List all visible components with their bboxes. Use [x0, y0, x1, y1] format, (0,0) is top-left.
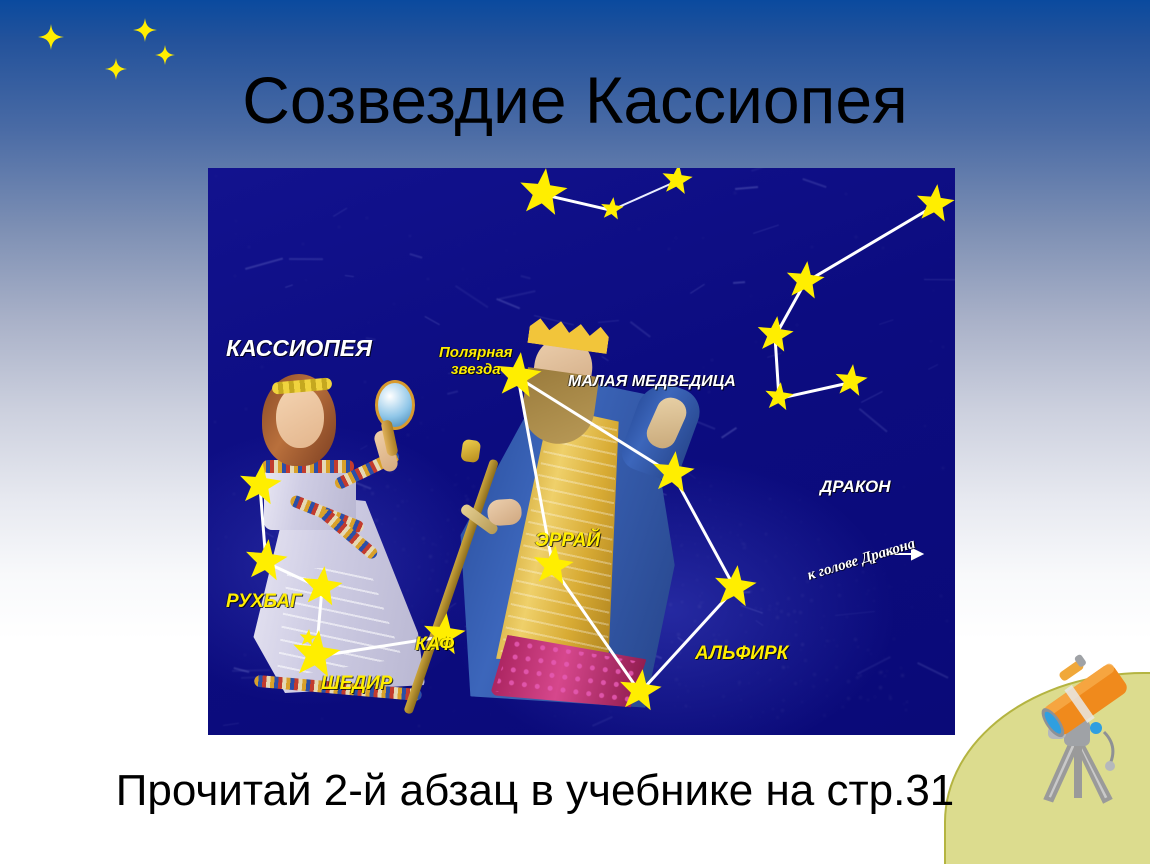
sparkle-1-icon [38, 24, 64, 50]
label-shedir-line1: ШЕДИР [321, 673, 392, 694]
star-cas-3 [298, 563, 346, 611]
star-draco-5 [831, 361, 871, 401]
label-caph-line1: КАФ [415, 634, 454, 655]
star-cepheus-foot [615, 666, 665, 716]
label-caph: КАФ [415, 634, 454, 655]
star-alderamin-star [710, 562, 760, 612]
page-title: Созвездие Кассиопея [0, 62, 1150, 138]
label-polar-star: Полярнаязвезда [439, 345, 513, 379]
label-alfirk: АЛЬФИРК [695, 643, 788, 664]
label-ruchbah-line1: РУХБАГ [226, 591, 302, 612]
star-draco-4 [761, 379, 797, 415]
label-errai: ЭРРАЙ [535, 530, 600, 551]
label-ursa-minor-line1: МАЛАЯ МЕДВЕДИЦА [568, 373, 736, 390]
sparkle-3-icon [133, 18, 157, 42]
label-draco-line1: ДРАКОН [820, 477, 891, 496]
star-polaris [515, 168, 571, 221]
star-um-3 [658, 168, 696, 199]
label-ruchbah: РУХБАГ [226, 591, 302, 612]
star-draco-1 [912, 181, 955, 227]
instruction-caption: Прочитай 2-й абзац в учебнике на стр.31 [0, 766, 1070, 816]
label-ursa-minor: МАЛАЯ МЕДВЕДИЦА [568, 373, 736, 391]
star-cas-2 [241, 536, 291, 586]
star-um-2 [597, 194, 627, 224]
label-draco: ДРАКОН [820, 477, 891, 496]
star-cas-1 [235, 460, 285, 510]
label-shedir: ШЕДИР [321, 673, 392, 694]
label-errai-line1: ЭРРАЙ [535, 530, 600, 551]
label-cassiopeia-line1: КАССИОПЕЯ [226, 335, 372, 361]
star-draco-2 [782, 258, 828, 304]
star-alfirk-star [648, 448, 698, 498]
label-polar-star-line2: звезда [451, 361, 501, 378]
slide-canvas: Созвездие Кассиопея [0, 0, 1150, 864]
constellation-map[interactable]: ПолярнаязвездаМАЛАЯ МЕДВЕДИЦАДРАКОНк гол… [208, 168, 955, 735]
star-draco-3 [753, 313, 797, 357]
label-alfirk-line1: АЛЬФИРК [695, 643, 788, 664]
label-cassiopeia: КАССИОПЕЯ [226, 336, 372, 362]
label-polar-star-line1: Полярная [439, 344, 513, 361]
